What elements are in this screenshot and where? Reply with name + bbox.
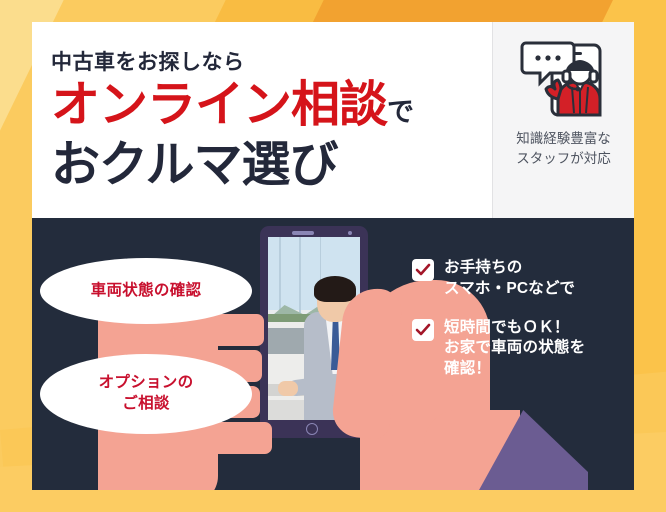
check-icon (412, 259, 434, 281)
staff-caption-line-2: スタッフが対応 (516, 149, 611, 169)
operator-headset-icon (518, 35, 610, 126)
checklist-item: お手持ちの スマホ・PCなどで (412, 258, 628, 300)
pill-label: 車両状態の確認 (91, 281, 202, 302)
headline-line-2: おクルマ選び (51, 140, 338, 189)
checklist-label: 短時間でもＯＫ！ お家で車両の状態を 確認！ (444, 318, 585, 380)
checklist-item: 短時間でもＯＫ！ お家で車両の状態を 確認！ (412, 318, 628, 380)
headline-particle: で (387, 97, 414, 128)
headline-line-1: オンライン相談で (51, 80, 414, 129)
pill-vehicle-condition[interactable]: 車両状態の確認 (40, 258, 252, 324)
staff-caption-line-1: 知識経験豊富な (516, 129, 611, 149)
pill-label: オプションの ご相談 (99, 373, 194, 415)
benefits-checklist: お手持ちの スマホ・PCなどで 短時間でもＯＫ！ お家で車両の状態を 確認！ (412, 258, 628, 398)
check-icon (412, 319, 434, 341)
phone-camera (348, 231, 352, 235)
staff-support-caption: 知識経験豊富な スタッフが対応 (516, 129, 611, 168)
headline-emphasis: オンライン相談 (51, 76, 387, 133)
pill-option-consult[interactable]: オプションの ご相談 (40, 354, 252, 434)
online-consultation-banner: 中古車をお探しなら オンライン相談で おクルマ選び (0, 0, 666, 512)
checklist-label: お手持ちの スマホ・PCなどで (444, 258, 575, 300)
headline-kicker: 中古車をお探しなら (51, 46, 245, 76)
staff-support-aside: 知識経験豊富な スタッフが対応 (492, 22, 634, 218)
features-dark-panel: 車両状態の確認 オプションの ご相談 お手持ちの スマホ・PCなどで (32, 218, 634, 490)
phone-speaker (292, 231, 314, 235)
headline-card: 中古車をお探しなら オンライン相談で おクルマ選び (32, 22, 634, 218)
headline-text-block: 中古車をお探しなら オンライン相談で おクルマ選び (32, 22, 492, 218)
